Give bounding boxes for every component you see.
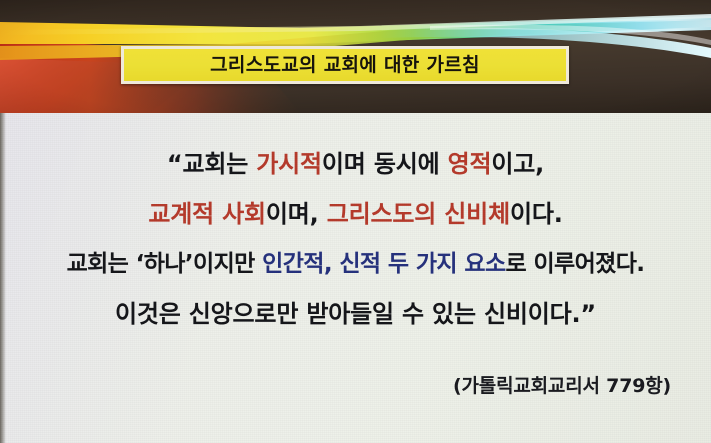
quote-segment-red: 그리스도의 신비체 (327, 200, 510, 228)
quote-segment-black: “교회는 (167, 150, 256, 178)
quote-segment-blue: 인간적, 신적 두 가지 요소 (262, 251, 505, 277)
title-banner-fill: 그리스도교의 교회에 대한 가르침 (124, 49, 566, 81)
quote-line-1: “교회는 가시적이며 동시에 영적이고, (0, 139, 711, 189)
quote-line-2: 교계적 사회이며, 그리스도의 신비체이다. (0, 189, 711, 239)
quote-line-3: 교회는 ‘하나’이지만 인간적, 신적 두 가지 요소로 이루어졌다. (0, 239, 711, 289)
quote-segment-black: 이고, (491, 150, 544, 178)
presentation-slide: 그리스도교의 교회에 대한 가르침 “교회는 가시적이며 동시에 영적이고, 교… (0, 0, 711, 443)
quotation-block: “교회는 가시적이며 동시에 영적이고, 교계적 사회이며, 그리스도의 신비체… (0, 139, 711, 339)
quote-segment-red: 교계적 사회 (148, 200, 266, 228)
slide-header: 그리스도교의 교회에 대한 가르침 (0, 0, 711, 113)
slide-body: “교회는 가시적이며 동시에 영적이고, 교계적 사회이며, 그리스도의 신비체… (0, 113, 711, 443)
quote-segment-black: 로 이루어졌다. (506, 251, 645, 277)
quote-segment-red: 가시적 (256, 150, 322, 178)
quote-segment-black: 이다. (510, 200, 563, 228)
quote-segment-black: 이며, (266, 200, 327, 228)
title-banner: 그리스도교의 교회에 대한 가르침 (121, 46, 569, 84)
quote-line-4: 이것은 신앙으로만 받아들일 수 있는 신비이다.” (0, 289, 711, 339)
quote-segment-black: 이것은 신앙으로만 받아들일 수 있는 신비이다.” (115, 300, 596, 328)
quote-segment-red: 영적 (448, 150, 492, 178)
page-title: 그리스도교의 교회에 대한 가르침 (210, 56, 480, 75)
quote-segment-black: 이며 동시에 (322, 150, 448, 178)
source-citation: (가톨릭교회교리서 779항) (453, 371, 671, 398)
quote-segment-black: 교회는 ‘하나’이지만 (67, 251, 263, 277)
